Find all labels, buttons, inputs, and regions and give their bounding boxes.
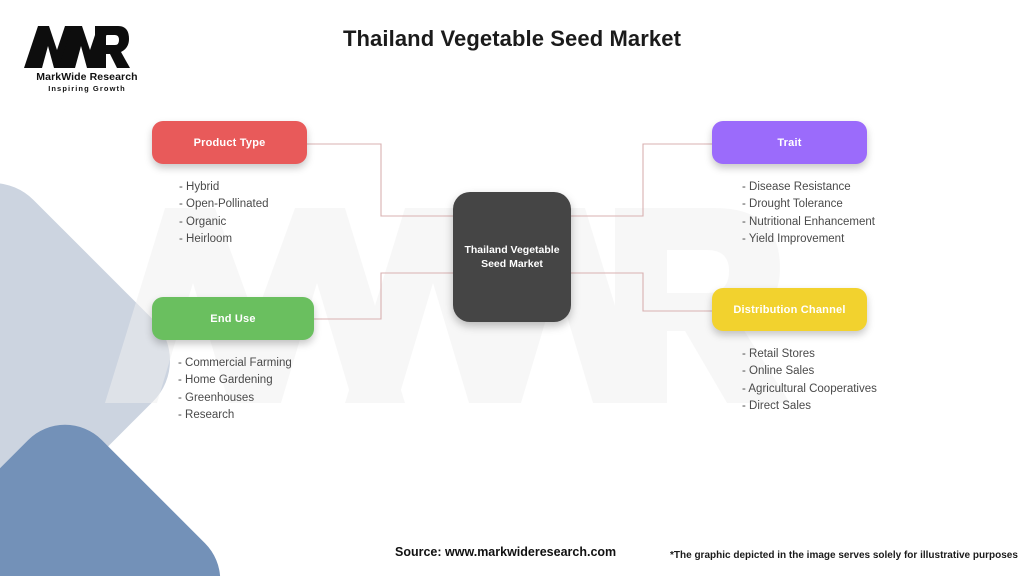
list-item: - Direct Sales [742,398,867,415]
list-item: - Disease Resistance [742,179,867,196]
list-item: - Commercial Farming [178,355,314,372]
list-item: - Retail Stores [742,346,867,363]
list-item: - Home Gardening [178,372,314,389]
list-item: - Open-Pollinated [179,196,307,213]
logo-name: MarkWide Research [22,71,152,83]
disclaimer-text: *The graphic depicted in the image serve… [670,550,1018,561]
list-item: - Organic [179,214,307,231]
branch-header-distribution-channel[interactable]: Distribution Channel [712,288,867,331]
list-item: - Drought Tolerance [742,196,867,213]
source-text: Source: www.markwideresearch.com [395,545,616,559]
branch-label-distribution-channel: Distribution Channel [733,304,845,316]
branch-items-end-use: - Commercial Farming - Home Gardening - … [152,355,314,425]
list-item: - Research [178,407,314,424]
branch-items-trait: - Disease Resistance - Drought Tolerance… [712,179,867,249]
branch-distribution-channel: Distribution Channel - Retail Stores - O… [712,288,867,416]
center-node: Thailand Vegetable Seed Market [453,192,571,322]
branch-label-end-use: End Use [210,313,255,325]
branch-items-product-type: - Hybrid - Open-Pollinated - Organic - H… [152,179,307,249]
list-item: - Greenhouses [178,390,314,407]
branch-product-type: Product Type - Hybrid - Open-Pollinated … [152,121,307,249]
branch-trait: Trait - Disease Resistance - Drought Tol… [712,121,867,249]
page-title: Thailand Vegetable Seed Market [0,26,1024,52]
decorative-shape-dark [0,403,242,576]
list-item: - Hybrid [179,179,307,196]
list-item: - Agricultural Cooperatives [742,381,867,398]
list-item: - Online Sales [742,363,867,380]
logo-tagline: Inspiring Growth [22,84,152,93]
list-item: - Nutritional Enhancement [742,214,867,231]
branch-header-end-use[interactable]: End Use [152,297,314,340]
list-item: - Yield Improvement [742,231,867,248]
list-item: - Heirloom [179,231,307,248]
branch-items-distribution-channel: - Retail Stores - Online Sales - Agricul… [712,346,867,416]
branch-end-use: End Use - Commercial Farming - Home Gard… [152,297,314,425]
infographic-canvas: MarkWide Research Inspiring Growth Thail… [0,0,1024,576]
branch-label-product-type: Product Type [194,137,266,149]
branch-header-product-type[interactable]: Product Type [152,121,307,164]
branch-header-trait[interactable]: Trait [712,121,867,164]
center-node-label: Thailand Vegetable Seed Market [456,243,567,271]
branch-label-trait: Trait [777,137,801,149]
